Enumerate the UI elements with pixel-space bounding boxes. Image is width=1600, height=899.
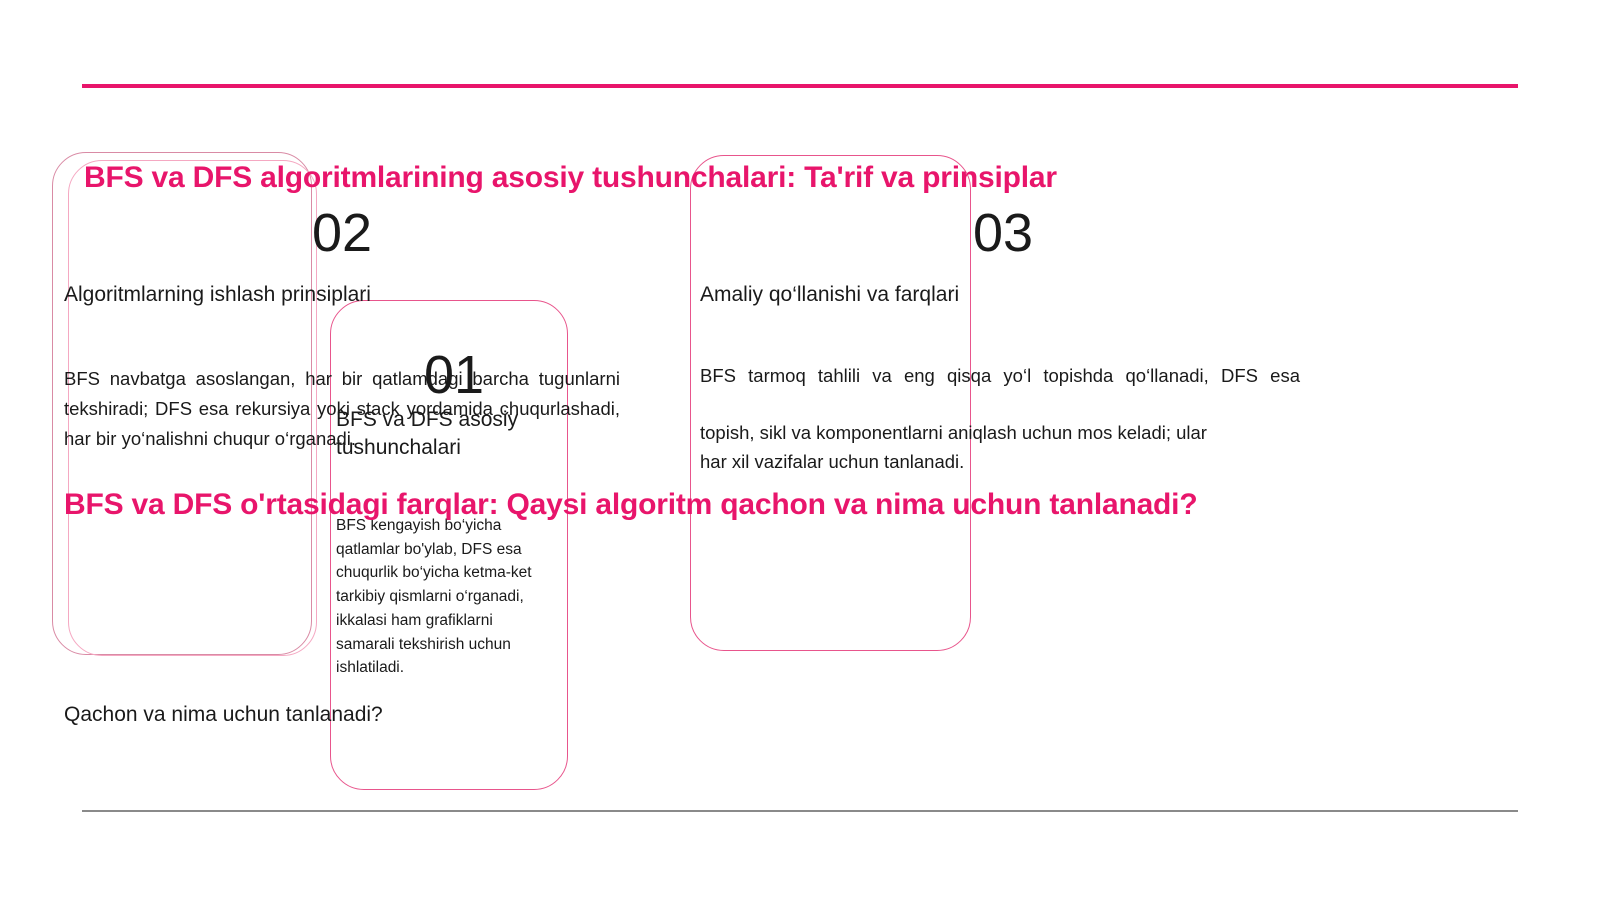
footer-question-text: Qachon va nima uchun tanlanadi? bbox=[64, 700, 764, 730]
section-body-01-line-8: ishlatiladi. bbox=[336, 656, 548, 680]
top-accent-rule bbox=[82, 84, 1518, 88]
section-body-01-line-3-overlap: chuqurlik bo‘yicha ketma-ket bbox=[336, 561, 548, 585]
section-body-03-line-2: topish, sikl va komponentlarni aniqlash … bbox=[700, 419, 1300, 448]
section-body-01-line-2: qatlamlar bo'ylab, DFS esa bbox=[336, 538, 548, 562]
section-body-03-line-1: BFS tarmoq tahlili va eng qisqa yo‘l top… bbox=[700, 362, 1300, 419]
card-number-01: 01 bbox=[424, 348, 484, 402]
section-title-01: BFS va DFS asosiy tushunchalari bbox=[336, 406, 568, 462]
section-title-03: Amaliy qo‘llanishi va farqlari bbox=[700, 281, 1260, 309]
section-body-01-line-6: ikkalasi ham grafiklarni bbox=[336, 609, 548, 633]
section-body-01-line-3: chuqurlik bo‘yicha ketma- bbox=[336, 564, 511, 581]
section-title-02: Algoritmlarning ishlash prinsiplari bbox=[64, 281, 624, 309]
section-body-01-line-5: tarkibiy qismlarni o‘rganadi, bbox=[336, 585, 548, 609]
section-body-03: BFS tarmoq tahlili va eng qisqa yo‘l top… bbox=[700, 362, 1300, 476]
card-number-02: 02 bbox=[312, 206, 372, 260]
section-body-03-line-3: har xil vazifalar uchun tanlanadi. bbox=[700, 448, 1300, 477]
card-number-03: 03 bbox=[973, 206, 1033, 260]
slide-main-heading: BFS va DFS algoritmlarining asosiy tushu… bbox=[84, 155, 1384, 201]
section-body-01-line-7: samarali tekshirish uchun bbox=[336, 633, 548, 657]
slide-canvas: 02 Algoritmlarning ishlash prinsiplari B… bbox=[0, 0, 1600, 899]
slide-differences-heading: BFS va DFS o'rtasidagi farqlar: Qaysi al… bbox=[64, 482, 1244, 528]
section-body-01: BFS kengayish bo‘yicha qatlamlar bo'ylab… bbox=[336, 514, 548, 680]
bottom-divider-rule bbox=[82, 810, 1518, 812]
